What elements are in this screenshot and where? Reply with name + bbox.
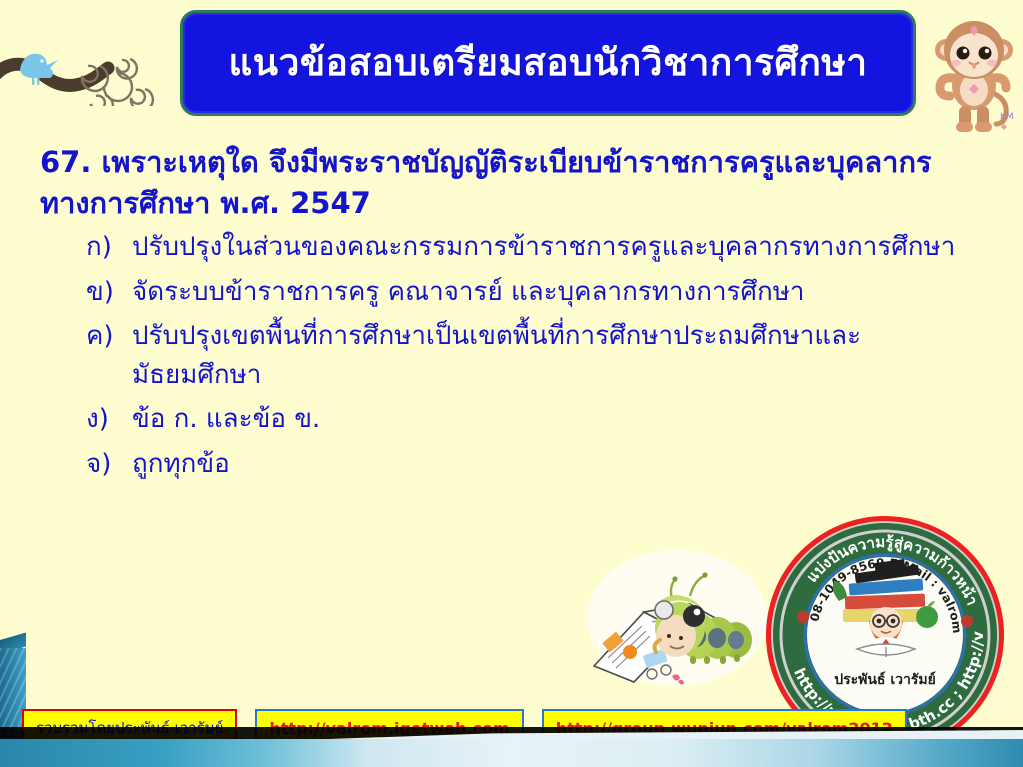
- bottom-band: [0, 739, 1023, 767]
- bird-on-branch-icon: [0, 44, 176, 106]
- header-zone: แนวข้อสอบเตรียมสอบนักวิชาการศึกษา: [0, 0, 1023, 140]
- choice-item-e[interactable]: จ) ถูกทุกข้อ: [86, 445, 983, 483]
- choice-item-a[interactable]: ก) ปรับปรุงในส่วนของคณะกรรมการข้าราชการค…: [86, 228, 983, 266]
- choice-text-a: ปรับปรุงในส่วนของคณะกรรมการข้าราชการครูแ…: [132, 228, 983, 266]
- choice-list: ก) ปรับปรุงในส่วนของคณะกรรมการข้าราชการค…: [0, 228, 1023, 483]
- slide-title-box: แนวข้อสอบเตรียมสอบนักวิชาการศึกษา: [180, 10, 916, 116]
- choice-text-e: ถูกทุกข้อ: [132, 445, 983, 483]
- slide-canvas: แนวข้อสอบเตรียมสอบนักวิชาการศึกษา: [0, 0, 1023, 767]
- monkey-mascot-icon: KM: [928, 6, 1020, 134]
- choice-item-c[interactable]: ค) ปรับปรุงเขตพื้นที่การศึกษาเป็นเขตพื้น…: [86, 317, 983, 394]
- choice-item-d[interactable]: ง) ข้อ ก. และข้อ ข.: [86, 400, 983, 438]
- choice-label-b: ข): [86, 273, 132, 311]
- choice-label-c: ค): [86, 317, 132, 355]
- page-title: แนวข้อสอบเตรียมสอบนักวิชาการศึกษา: [228, 43, 867, 84]
- caterpillar-reading-book-icon: [586, 548, 768, 688]
- choice-label-e: จ): [86, 445, 132, 483]
- question-text: 67. เพราะเหตุใด จึงมีพระราชบัญญัติระเบีย…: [40, 142, 987, 224]
- choice-text-c: ปรับปรุงเขตพื้นที่การศึกษาเป็นเขตพื้นที่…: [132, 317, 983, 394]
- seal-center-name: ประพันธ์ เวารัมย์: [834, 671, 936, 688]
- svg-text:KM: KM: [1000, 112, 1014, 122]
- choice-text-b: จัดระบบข้าราชการครู คณาจารย์ และบุคลากรท…: [132, 273, 983, 311]
- choice-label-d: ง): [86, 400, 132, 438]
- choice-text-d: ข้อ ก. และข้อ ข.: [132, 400, 983, 438]
- choice-label-a: ก): [86, 228, 132, 266]
- choice-item-b[interactable]: ข) จัดระบบข้าราชการครู คณาจารย์ และบุคลา…: [86, 273, 983, 311]
- question-content: 67. เพราะเหตุใด จึงมีพระราชบัญญัติระเบีย…: [0, 142, 1023, 489]
